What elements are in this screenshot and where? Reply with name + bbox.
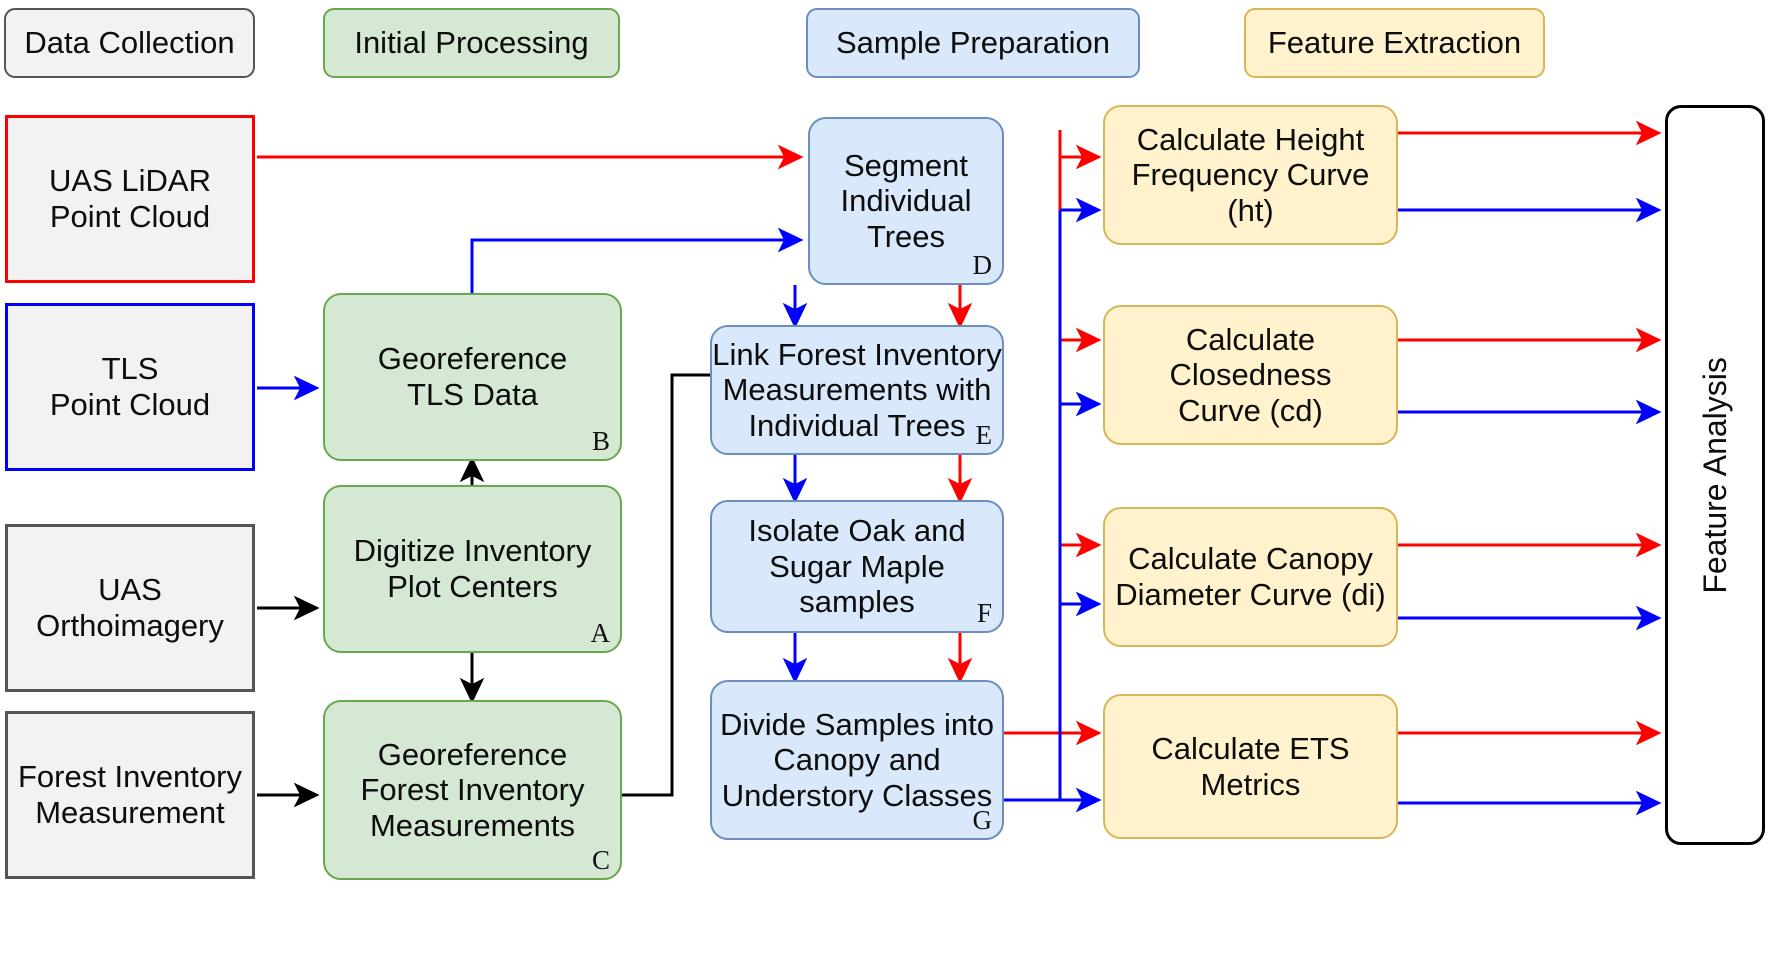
process-calculate-height-frequency-curve[interactable]: Calculate Height Frequency Curve (ht) <box>1103 105 1398 245</box>
process-tag: A <box>591 618 611 649</box>
flowchart-canvas: Data Collection Initial Processing Sampl… <box>0 0 1772 956</box>
process-tag: E <box>976 420 993 451</box>
process-label: Calculate Closedness Curve (cd) <box>1105 322 1396 429</box>
process-label: Segment Individual Trees <box>810 148 1002 255</box>
process-label: Calculate Height Frequency Curve (ht) <box>1105 122 1396 229</box>
source-label: UAS LiDAR Point Cloud <box>49 163 211 234</box>
process-calculate-closedness-curve[interactable]: Calculate Closedness Curve (cd) <box>1103 305 1398 445</box>
process-tag: D <box>973 250 993 281</box>
process-tag: G <box>973 805 993 836</box>
process-isolate-oak-sugar-maple-samples[interactable]: Isolate Oak and Sugar Maple samples F <box>710 500 1004 633</box>
process-digitize-inventory-plot-centers[interactable]: Digitize Inventory Plot Centers A <box>323 485 622 653</box>
process-label: Calculate ETS Metrics <box>1151 731 1349 802</box>
process-label: Divide Samples into Canopy and Understor… <box>720 707 994 814</box>
source-tls-point-cloud[interactable]: TLS Point Cloud <box>5 303 255 471</box>
header-sample-preparation: Sample Preparation <box>806 8 1140 78</box>
header-data-collection: Data Collection <box>4 8 255 78</box>
header-label: Sample Preparation <box>836 25 1110 61</box>
process-label: Link Forest Inventory Measurements with … <box>712 337 1001 444</box>
process-georeference-forest-inventory-measurements[interactable]: Georeference Forest Inventory Measuremen… <box>323 700 622 880</box>
process-label: Georeference TLS Data <box>378 341 568 412</box>
header-label: Feature Extraction <box>1268 25 1521 61</box>
process-link-forest-inventory-measurements[interactable]: Link Forest Inventory Measurements with … <box>710 325 1004 455</box>
header-feature-extraction: Feature Extraction <box>1244 8 1545 78</box>
process-tag: C <box>592 845 610 876</box>
source-label: TLS Point Cloud <box>50 351 210 422</box>
process-calculate-canopy-diameter-curve[interactable]: Calculate Canopy Diameter Curve (di) <box>1103 507 1398 647</box>
source-label: UAS Orthoimagery <box>36 572 224 643</box>
source-uas-lidar-point-cloud[interactable]: UAS LiDAR Point Cloud <box>5 115 255 283</box>
header-label: Initial Processing <box>354 25 588 61</box>
process-label: Calculate Canopy Diameter Curve (di) <box>1115 541 1385 612</box>
header-label: Data Collection <box>24 25 234 61</box>
source-uas-orthoimagery[interactable]: UAS Orthoimagery <box>5 524 255 692</box>
process-georeference-tls-data[interactable]: Georeference TLS Data B <box>323 293 622 461</box>
source-forest-inventory-measurement[interactable]: Forest Inventory Measurement <box>5 711 255 879</box>
header-initial-processing: Initial Processing <box>323 8 620 78</box>
process-feature-analysis[interactable]: Feature Analysis <box>1665 105 1765 845</box>
process-segment-individual-trees[interactable]: Segment Individual Trees D <box>808 117 1004 285</box>
process-label: Georeference Forest Inventory Measuremen… <box>361 737 585 844</box>
process-calculate-ets-metrics[interactable]: Calculate ETS Metrics <box>1103 694 1398 839</box>
process-tag: F <box>977 598 992 629</box>
process-tag: B <box>592 426 610 457</box>
process-label: Isolate Oak and Sugar Maple samples <box>712 513 1002 620</box>
process-divide-samples-canopy-understory[interactable]: Divide Samples into Canopy and Understor… <box>710 680 1004 840</box>
process-label: Digitize Inventory Plot Centers <box>354 533 592 604</box>
source-label: Forest Inventory Measurement <box>18 759 242 830</box>
feature-analysis-label: Feature Analysis <box>1697 357 1734 594</box>
